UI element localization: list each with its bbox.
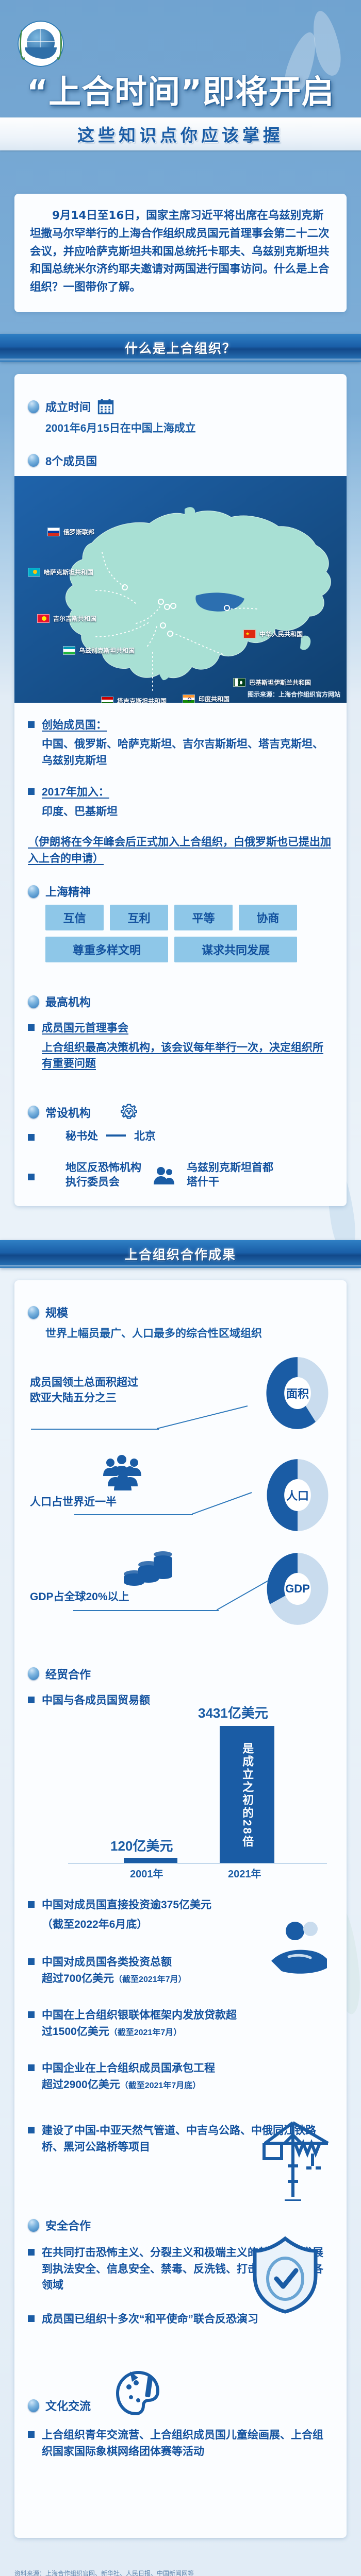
founders-label: 创始成员国：: [42, 717, 107, 734]
spirit-chip: 谋求共同发展: [174, 937, 297, 962]
chart-axis-line: [68, 1863, 327, 1864]
standing-body-rats: 地区反恐怖机构 执行委员会 乌兹别克斯坦首都 塔什干: [28, 1161, 333, 1190]
flag-russia-icon: [47, 528, 60, 536]
standing-body-secretariat: 秘书处 北京: [28, 1128, 333, 1143]
people-group-icon: [101, 1454, 145, 1490]
culture-bullet-1: 上合组织青年交流营、上合组织成员国儿童绘画展、上合组织国家国际象棋网络团体赛等活…: [28, 2427, 333, 2460]
section-header-what-is-sco: 什么是上合组织？: [0, 334, 361, 362]
coins-icon: [119, 1550, 175, 1591]
donut-gdp-label: GDP: [264, 1582, 331, 1596]
area-caption-bold: 欧亚大陆五分之三: [30, 1392, 117, 1404]
member-states-map: 俄罗斯联邦 哈萨克斯坦共和国 吉尔吉斯共和国 乌兹别克斯坦共和国 塔吉克斯坦共和…: [14, 476, 347, 703]
leader-line-icon: [192, 1489, 254, 1516]
founders-heading: 创始成员国：: [28, 717, 333, 734]
square-bullet-icon: [28, 2011, 35, 2018]
donut-gdp-chart: GDP: [264, 1550, 331, 1628]
section-header-achievements: 上合组织合作成果: [0, 1240, 361, 1268]
bullet-dot-icon: [28, 885, 39, 898]
supreme-body-item: 成员国元首理事会: [28, 1020, 333, 1037]
flag-china-icon: ★: [243, 630, 256, 638]
page-title: “上合时间”即将开启: [0, 66, 361, 113]
eurasia-map-shape: [14, 476, 347, 703]
trade-bar-chart: 3431亿美元 是成立之初的28倍 120亿美元 2001年 2021年: [28, 1716, 333, 1886]
bullet-dot-icon: [28, 2219, 39, 2232]
shanghai-spirit-label: 上海精神: [45, 883, 91, 900]
subtitle-band: 这些知识点你应该掌握: [0, 117, 361, 150]
square-bullet-icon: [28, 1697, 35, 1703]
people-icon: [153, 1165, 175, 1185]
spirit-row-2: 尊重多样文明 谋求共同发展: [45, 937, 333, 962]
calendar-icon: [97, 398, 114, 415]
spirit-chip: 平等: [174, 905, 233, 930]
bar-2021: 是成立之初的28倍: [220, 1726, 274, 1864]
trade-heading: 经贸合作: [28, 1666, 333, 1682]
security-label: 安全合作: [45, 2217, 91, 2233]
crane-icon: [261, 2114, 331, 2201]
intro-card: 9月14日至16日，国家主席习近平将出席在乌兹别克斯坦撒马尔罕举行的上海合作组织…: [14, 194, 347, 312]
donut-area-chart: 面积: [264, 1354, 331, 1432]
dash-separator-icon: [106, 1134, 126, 1137]
page-footer: 资料来源：上海合作组织官网、新华社、人民日报、中国新闻网等 人民日报 客户端: [0, 2555, 361, 2576]
section-title: 什么是上合组织？: [125, 338, 236, 357]
bullet-dot-icon: [28, 1106, 39, 1118]
scale-label: 规模: [45, 1304, 68, 1320]
joined-2017-label: 2017年加入：: [42, 784, 109, 801]
square-bullet-icon: [28, 2127, 35, 2133]
bullet-dot-icon: [28, 995, 39, 1008]
trade-bullet-2-note: （截至2021年7月）: [114, 1975, 187, 1984]
scale-subtitle: 世界上幅员最广、人口最多的综合性区域组织: [45, 1326, 333, 1342]
security-bullet-2-text: 成员国已组织十多次“和平使命”联合反恐演习: [42, 2311, 258, 2328]
donut-gdp-block: GDP占全球20%以上 GDP: [28, 1550, 333, 1648]
supreme-body-heading: 最高机构: [28, 993, 333, 1010]
bullet-dot-icon: [28, 400, 39, 413]
bar-xlabel-2021: 2021年: [228, 1866, 261, 1880]
square-bullet-icon: [28, 721, 35, 728]
joined-2017-text: 印度、巴基斯坦: [42, 804, 333, 820]
scale-heading: 规模: [28, 1304, 333, 1320]
supreme-body-item-desc: 上合组织最高决策机构，该会议每年举行一次，决定组织所有重要问题: [42, 1040, 333, 1072]
square-bullet-icon: [28, 2249, 35, 2256]
trade-bullet-4-note: （截至2021年7月底）: [120, 2081, 201, 2090]
spirit-chip: 尊重多样文明: [45, 937, 168, 962]
security-heading: 安全合作: [28, 2217, 333, 2233]
section2-card: 规模 世界上幅员最广、人口最多的综合性区域组织 成员国领土总面积超过欧亚大陆五分…: [14, 1280, 347, 2538]
donut-area-label: 面积: [264, 1385, 331, 1401]
intro-paragraph: 9月14日至16日，国家主席习近平将出席在乌兹别克斯坦撒马尔罕举行的上海合作组织…: [30, 207, 331, 297]
supreme-body-label: 最高机构: [45, 993, 91, 1010]
section-title: 上合组织合作成果: [125, 1245, 236, 1263]
flag-india-icon: [183, 694, 195, 703]
bullet-dot-icon: [28, 1667, 39, 1680]
culture-bullet-1-text: 上合组织青年交流营、上合组织成员国儿童绘画展、上合组织国家国际象棋网络团体赛等活…: [42, 2427, 333, 2460]
palette-icon: [116, 2370, 160, 2416]
leader-underline: [74, 1514, 193, 1515]
square-bullet-icon: [28, 1174, 35, 1180]
gear-people-icon: [119, 1102, 139, 1123]
square-bullet-icon: [28, 1024, 35, 1031]
spirit-chip: 互信: [45, 905, 104, 930]
shield-check-icon: [252, 2235, 319, 2314]
bar-value-2001: 120亿美元: [110, 1836, 173, 1855]
leader-line-icon: [157, 1404, 250, 1431]
sco-emblem-icon: [18, 21, 64, 67]
map-member-kyrgyzstan: 吉尔吉斯共和国: [37, 614, 96, 623]
members-heading: 8个成员国: [28, 452, 333, 469]
rats-name: 地区反恐怖机构 执行委员会: [65, 1161, 141, 1190]
map-member-russia: 俄罗斯联邦: [47, 528, 94, 536]
map-source-note: 图示来源：上海合作组织官方网站: [248, 690, 340, 699]
bar-value-2021: 3431亿美元: [198, 1703, 268, 1722]
square-bullet-icon: [28, 788, 35, 795]
founding-time-heading: 成立时间: [28, 398, 333, 415]
square-bullet-icon: [28, 2064, 35, 2071]
flag-tajikistan-icon: [101, 697, 113, 703]
page-header: “上合时间”即将开启 这些知识点你应该掌握: [0, 0, 361, 184]
standing-bodies-label: 常设机构: [45, 1104, 91, 1121]
culture-heading: 文化交流: [28, 2395, 333, 2416]
bar-xlabel-2001: 2001年: [130, 1866, 163, 1880]
shanghai-spirit-heading: 上海精神: [28, 883, 333, 900]
bar-annotation: 是成立之初的28倍: [241, 1742, 253, 1848]
shanghai-spirit-grid: 互信 互利 平等 协商 尊重多样文明 谋求共同发展: [45, 905, 333, 962]
trade-bullet-3: 中国在上合组织银联体框架内发放贷款超 过1500亿美元（截至2021年7月）: [28, 2007, 333, 2040]
joined-2017-heading: 2017年加入：: [28, 784, 333, 801]
donut-population-chart: 人口: [264, 1456, 331, 1534]
leader-underline: [31, 1429, 159, 1430]
bullet-dot-icon: [28, 1306, 39, 1319]
square-bullet-icon: [28, 1134, 35, 1141]
trade-label: 经贸合作: [45, 1666, 91, 1682]
secretariat-name: 秘书处: [65, 1128, 98, 1143]
map-member-india: 印度共和国: [183, 694, 229, 703]
secretariat-location: 北京: [134, 1128, 156, 1143]
trade-bullet-1-main: 中国对成员国直接投资逾375亿美元: [42, 1897, 211, 1913]
source-note: 资料来源：上海合作组织官网、新华社、人民日报、中国新闻网等: [14, 2569, 347, 2576]
map-member-china: ★ 中华人民共和国: [243, 630, 303, 638]
supreme-body-item-label: 成员国元首理事会: [42, 1020, 128, 1037]
membership-note: （伊朗将在今年峰会后正式加入上合组织，白俄罗斯也已提出加入上合的申请）: [28, 834, 333, 867]
spirit-chip: 互利: [110, 905, 168, 930]
trade-bullet-4: 中国企业在上合组织成员国承包工程 超过2900亿美元（截至2021年7月底）: [28, 2060, 333, 2093]
founders-text: 中国、俄罗斯、哈萨克斯坦、吉尔吉斯斯坦、塔吉克斯坦、乌兹别克斯坦: [42, 736, 333, 769]
bullet-dot-icon: [28, 2399, 39, 2412]
square-bullet-icon: [28, 2315, 35, 2322]
section1-card: 成立时间 2001年6月15日在中国上海成立 8个成员国: [14, 374, 347, 1206]
rats-location: 乌兹别克斯坦首都 塔什干: [187, 1161, 273, 1190]
flag-uzbekistan-icon: [63, 646, 75, 655]
trade-bullet-1: 中国对成员国直接投资逾375亿美元: [28, 1897, 333, 1913]
bullet-dot-icon: [28, 454, 39, 467]
map-member-tajikistan: 塔吉克斯坦共和国: [101, 697, 167, 703]
founding-time-label: 成立时间: [45, 398, 91, 415]
area-caption-plain: 成员国领土总面积超过: [30, 1377, 138, 1388]
flag-pakistan-icon: [233, 678, 245, 687]
flag-kyrgyzstan-icon: [37, 614, 50, 623]
map-member-pakistan: 巴基斯坦伊斯兰共和国: [233, 678, 311, 687]
trade-chart-heading: 中国与各成员国贸易额: [28, 1692, 333, 1709]
members-label: 8个成员国: [45, 452, 97, 469]
donut-population-block: 人口占世界近一半 人口: [28, 1452, 333, 1545]
founding-time-value: 2001年6月15日在中国上海成立: [45, 420, 333, 437]
map-member-uzbekistan: 乌兹别克斯坦共和国: [63, 646, 135, 655]
culture-label: 文化交流: [45, 2397, 91, 2414]
spirit-chip: 协商: [239, 905, 297, 930]
page-subtitle: 这些知识点你应该掌握: [77, 122, 284, 146]
donut-area-block: 成员国领土总面积超过欧亚大陆五分之三 面积: [28, 1354, 333, 1445]
infographic-page: “上合时间”即将开启 这些知识点你应该掌握 9月14日至16日，国家主席习近平将…: [0, 0, 361, 2576]
map-member-kazakhstan: 哈萨克斯坦共和国: [28, 568, 93, 577]
donut-population-label: 人口: [264, 1487, 331, 1503]
square-bullet-icon: [28, 1958, 35, 1965]
square-bullet-icon: [28, 1901, 35, 1908]
trade-bullet-3-note: （截至2021年7月）: [109, 2028, 182, 2037]
square-bullet-icon: [28, 2431, 35, 2438]
trade-chart-title: 中国与各成员国贸易额: [42, 1692, 150, 1709]
flag-kazakhstan-icon: [28, 568, 40, 577]
gdp-caption: GDP占全球20%以上: [30, 1589, 247, 1605]
standing-bodies-heading: 常设机构: [28, 1102, 333, 1123]
leader-underline: [73, 1610, 219, 1611]
hand-money-icon: [268, 1921, 330, 1978]
spirit-row-1: 互信 互利 平等 协商: [45, 905, 333, 930]
